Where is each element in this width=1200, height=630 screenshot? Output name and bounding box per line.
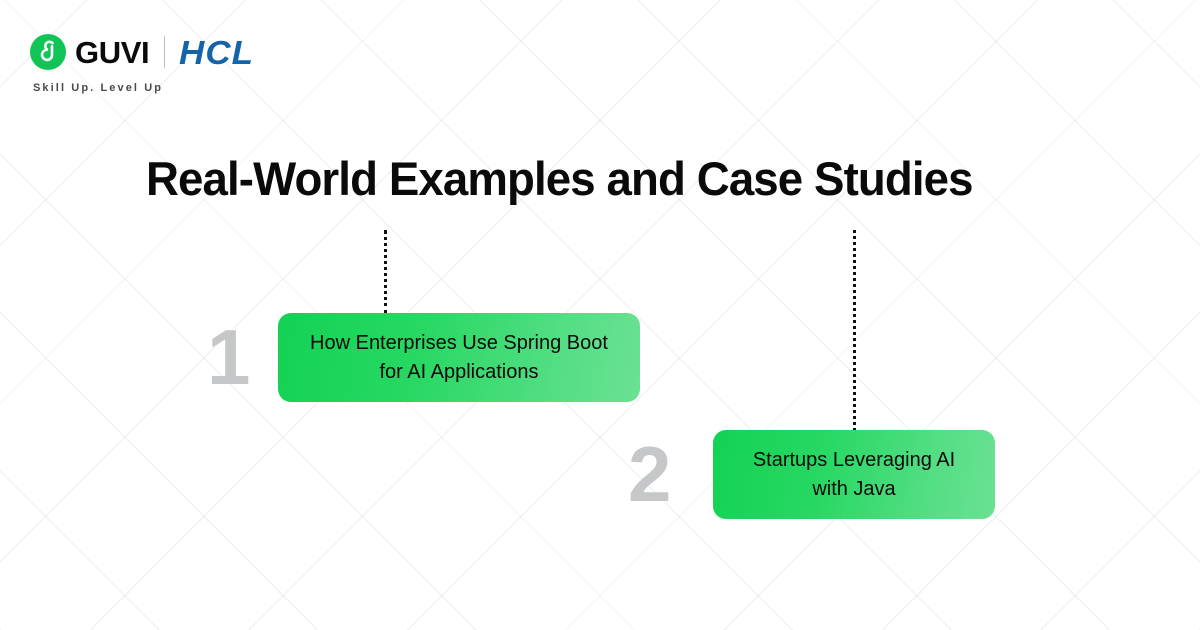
step-number-2: 2	[628, 435, 669, 513]
step-card-1-label: How Enterprises Use Spring Boot for AI A…	[300, 329, 618, 386]
hcl-wordmark: HCL	[179, 36, 254, 69]
step-card-2[interactable]: Startups Leveraging AI with Java	[713, 430, 995, 519]
page-title: Real-World Examples and Case Studies	[146, 153, 973, 205]
slide-canvas: GUVI HCL Skill Up. Level Up Real-World E…	[0, 0, 1200, 630]
brand-divider	[164, 36, 165, 68]
connector-line-1	[384, 230, 387, 314]
connector-line-2	[853, 230, 856, 431]
guvi-wordmark: GUVI	[75, 37, 149, 68]
brand-tagline: Skill Up. Level Up	[33, 82, 163, 94]
step-card-2-label: Startups Leveraging AI with Java	[735, 446, 973, 503]
brand-logo-row: GUVI HCL	[30, 30, 250, 74]
guvi-g-mark-icon	[30, 34, 66, 70]
step-card-1[interactable]: How Enterprises Use Spring Boot for AI A…	[278, 313, 640, 402]
step-number-1: 1	[207, 318, 248, 396]
brand-header: GUVI HCL Skill Up. Level Up	[30, 30, 250, 94]
